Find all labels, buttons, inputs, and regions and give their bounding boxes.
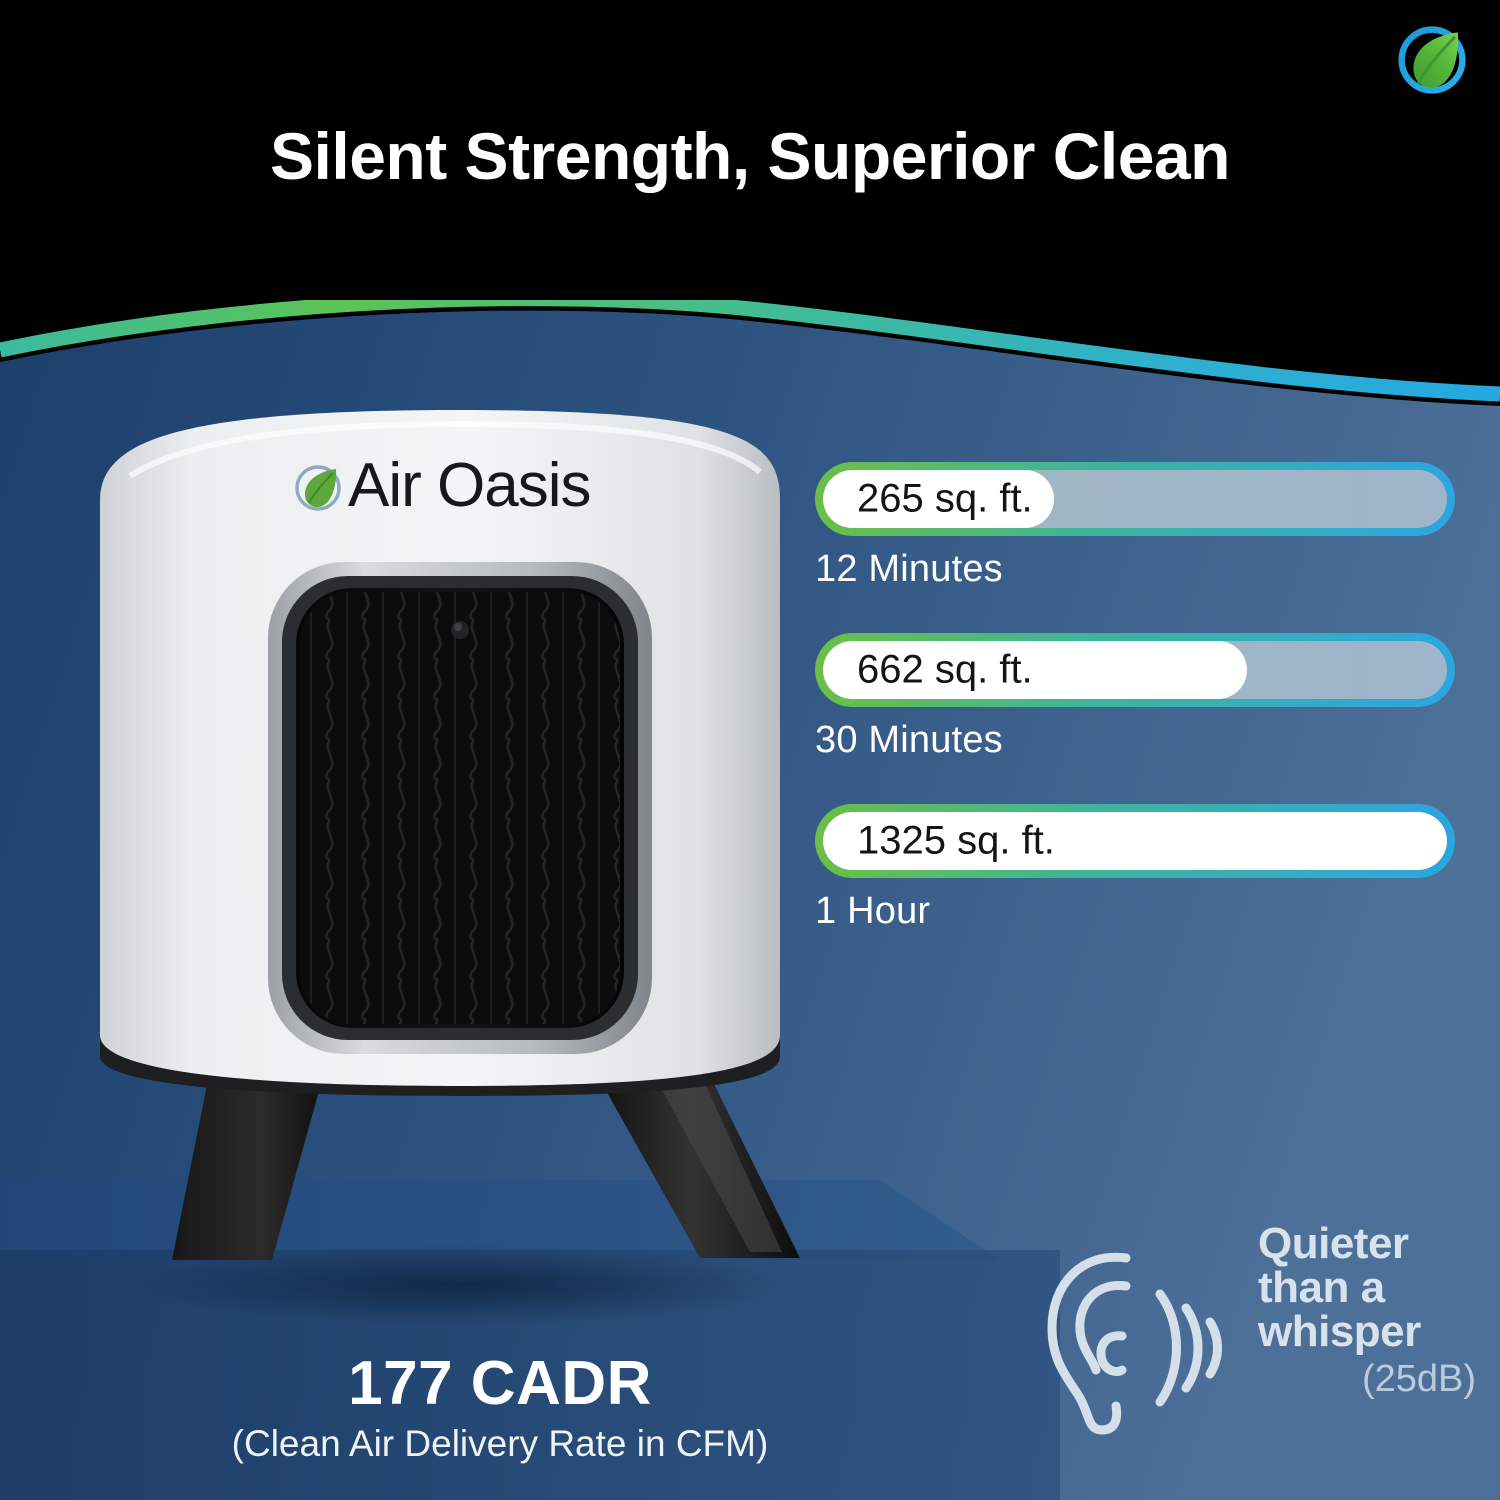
cadr-block: 177 CADR (Clean Air Delivery Rate in CFM… — [95, 1348, 905, 1465]
svg-text:Air Oasis: Air Oasis — [348, 451, 590, 520]
coverage-bar-track: 265 sq. ft. — [815, 462, 1455, 536]
coverage-bar-caption: 1 Hour — [815, 890, 1460, 933]
coverage-bar-group: 662 sq. ft. 30 Minutes — [815, 633, 1460, 762]
quiet-line-1: Quieter — [1258, 1222, 1480, 1266]
quiet-block: Quieter than a whisper (25dB) — [1030, 1222, 1480, 1452]
cadr-subtitle: (Clean Air Delivery Rate in CFM) — [95, 1423, 905, 1465]
air-purifier-product-image: Air Oasis — [60, 380, 860, 1330]
coverage-bar-value: 662 sq. ft. — [857, 648, 1033, 693]
quiet-line-2: than a — [1258, 1266, 1480, 1310]
infographic-canvas: Silent Strength, Superior Clean — [0, 0, 1500, 1500]
coverage-bar-caption: 30 Minutes — [815, 719, 1460, 762]
coverage-bar-value: 265 sq. ft. — [857, 477, 1033, 522]
page-title: Silent Strength, Superior Clean — [0, 118, 1500, 194]
cadr-value: 177 CADR — [95, 1348, 905, 1419]
coverage-bar-value: 1325 sq. ft. — [857, 819, 1055, 864]
quiet-decibels: (25dB) — [1258, 1358, 1480, 1401]
leaf-in-circle-logo-icon — [1386, 14, 1478, 106]
quiet-line-3: whisper — [1258, 1310, 1480, 1354]
coverage-bar-group: 265 sq. ft. 12 Minutes — [815, 462, 1460, 591]
quiet-text-block: Quieter than a whisper (25dB) — [1258, 1222, 1480, 1401]
coverage-bar-track: 1325 sq. ft. — [815, 804, 1455, 878]
ear-with-sound-waves-icon — [1030, 1228, 1245, 1443]
coverage-bar-track: 662 sq. ft. — [815, 633, 1455, 707]
coverage-bar-caption: 12 Minutes — [815, 548, 1460, 591]
coverage-bar-group: 1325 sq. ft. 1 Hour — [815, 804, 1460, 933]
coverage-bars-chart: 265 sq. ft. 12 Minutes 662 sq. ft. 30 Mi… — [815, 462, 1460, 975]
